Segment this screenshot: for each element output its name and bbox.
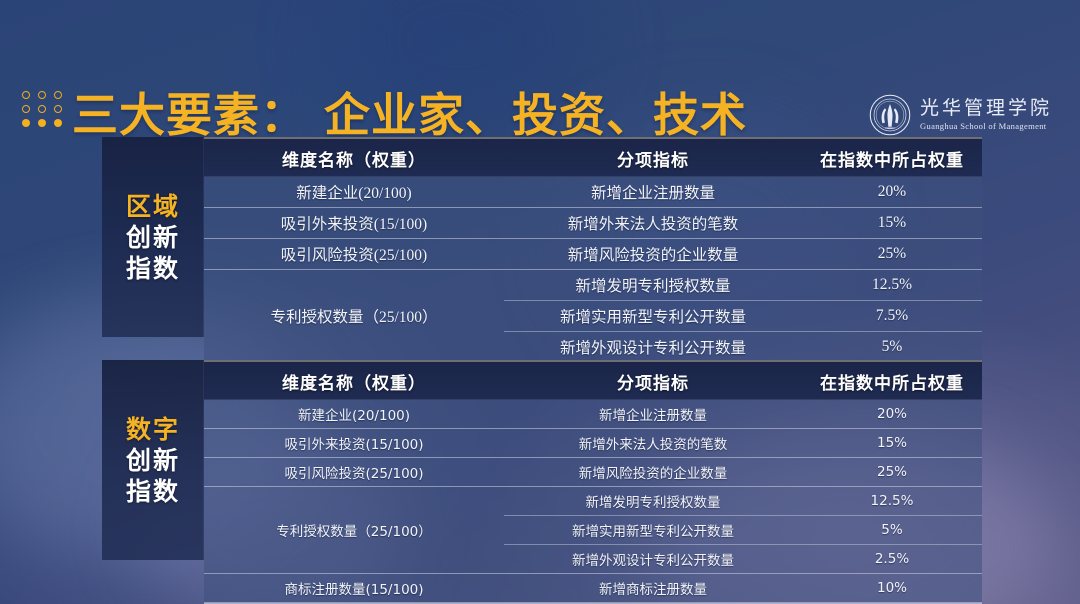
table-row: 吸引风险投资(25/100) 新增风险投资的企业数量 25% xyxy=(204,458,982,487)
dot-grid-icon xyxy=(22,91,68,135)
cell-weight: 25% xyxy=(802,239,982,269)
table-header-row: 维度名称（权重） 分项指标 在指数中所占权重 xyxy=(204,360,982,400)
side-label-line-2: 创新 xyxy=(126,222,180,253)
table-subrow: 新增外观设计专利公开数量 5% xyxy=(504,332,982,362)
table-subrow: 新增外观设计专利公开数量 2.5% xyxy=(504,545,982,573)
cell-weight: 15% xyxy=(802,429,982,457)
cell-indicator: 新增实用新型专利公开数量 xyxy=(504,301,802,331)
cell-indicator: 新增实用新型专利公开数量 xyxy=(504,516,802,544)
cell-indicator: 新增外观设计专利公开数量 xyxy=(504,332,802,362)
table-body: 新建企业(20/100) 新增企业注册数量 20% 吸引外来投资(15/100)… xyxy=(204,400,982,604)
table-header-row: 维度名称（权重） 分项指标 在指数中所占权重 xyxy=(204,137,982,177)
table-row: 吸引外来投资(15/100) 新增外来法人投资的笔数 15% xyxy=(204,208,982,239)
cell-dimension: 新建企业(20/100) xyxy=(204,177,504,207)
table-subrow: 新增实用新型专利公开数量 5% xyxy=(504,516,982,545)
cell-indicator: 新增发明专利授权数量 xyxy=(504,487,802,515)
logo-english-name: Guanghua School of Management xyxy=(920,122,1052,131)
table-row: 新建企业(20/100) 新增企业注册数量 20% xyxy=(204,177,982,208)
cell-weight: 20% xyxy=(802,400,982,428)
header-cell-indicator: 分项指标 xyxy=(504,146,802,171)
cell-dimension: 新建企业(20/100) xyxy=(204,400,504,428)
table-grid-digital: 维度名称（权重） 分项指标 在指数中所占权重 新建企业(20/100) 新增企业… xyxy=(204,360,982,560)
cell-weight: 12.5% xyxy=(802,270,982,300)
table-digital-innovation-index: 数字 创新 指数 维度名称（权重） 分项指标 在指数中所占权重 新建企业(20/… xyxy=(102,360,982,560)
cell-indicator: 新增风险投资的企业数量 xyxy=(504,239,802,269)
table-subrow: 新增实用新型专利公开数量 7.5% xyxy=(504,301,982,332)
cell-weight: 15% xyxy=(802,208,982,238)
merged-subrows: 新增发明专利授权数量 12.5% 新增实用新型专利公开数量 7.5% 新增外观设… xyxy=(504,270,982,362)
side-label-line-3: 指数 xyxy=(126,476,180,507)
merged-subrows: 新增发明专利授权数量 12.5% 新增实用新型专利公开数量 5% 新增外观设计专… xyxy=(504,487,982,573)
cell-indicator: 新增企业注册数量 xyxy=(504,400,802,428)
header-cell-dimension: 维度名称（权重） xyxy=(204,146,504,171)
header-cell-weight: 在指数中所占权重 xyxy=(802,369,982,394)
logo-chinese-name: 光华管理学院 xyxy=(920,99,1052,118)
slide-canvas: 三大要素： 企业家、投资、技术 光华管理学院 Guanghua School o… xyxy=(0,0,1080,604)
cell-indicator: 新增商标注册数量 xyxy=(504,574,802,602)
header-cell-indicator: 分项指标 xyxy=(504,369,802,394)
cell-indicator: 新增外来法人投资的笔数 xyxy=(504,429,802,457)
table-row: 商标注册数量(15/100) 新增商标注册数量 10% xyxy=(204,574,982,603)
cell-dimension-merged: 专利授权数量（25/100） xyxy=(204,487,504,573)
table-row: 新建企业(20/100) 新增企业注册数量 20% xyxy=(204,400,982,429)
table-subrow: 新增发明专利授权数量 12.5% xyxy=(504,270,982,301)
cell-indicator: 新增企业注册数量 xyxy=(504,177,802,207)
side-label-line-3: 指数 xyxy=(126,253,180,284)
cell-indicator: 新增外来法人投资的笔数 xyxy=(504,208,802,238)
table-row: 吸引风险投资(25/100) 新增风险投资的企业数量 25% xyxy=(204,239,982,270)
cell-indicator: 新增风险投资的企业数量 xyxy=(504,458,802,486)
table-row-merged-patent: 专利授权数量（25/100） 新增发明专利授权数量 12.5% 新增实用新型专利… xyxy=(204,487,982,574)
brand-logo: 光华管理学院 Guanghua School of Management xyxy=(869,94,1052,136)
table-row: 吸引外来投资(15/100) 新增外来法人投资的笔数 15% xyxy=(204,429,982,458)
cell-weight: 25% xyxy=(802,458,982,486)
table-row-merged-patent: 专利授权数量（25/100） 新增发明专利授权数量 12.5% 新增实用新型专利… xyxy=(204,270,982,363)
table-subrow: 新增发明专利授权数量 12.5% xyxy=(504,487,982,516)
cell-dimension: 吸引风险投资(25/100) xyxy=(204,458,504,486)
header-cell-weight: 在指数中所占权重 xyxy=(802,146,982,171)
cell-weight: 10% xyxy=(802,574,982,602)
side-label-line-2: 创新 xyxy=(126,445,180,476)
peking-university-seal-icon xyxy=(869,94,911,136)
cell-indicator: 新增发明专利授权数量 xyxy=(504,270,802,300)
cell-dimension: 吸引外来投资(15/100) xyxy=(204,208,504,238)
cell-weight: 7.5% xyxy=(802,301,982,331)
table-grid-regional: 维度名称（权重） 分项指标 在指数中所占权重 新建企业(20/100) 新增企业… xyxy=(204,137,982,337)
cell-weight: 2.5% xyxy=(802,545,982,573)
side-label-line-1: 区域 xyxy=(126,191,180,222)
header-cell-dimension: 维度名称（权重） xyxy=(204,369,504,394)
table-side-label-digital: 数字 创新 指数 xyxy=(102,360,204,560)
cell-dimension: 商标注册数量(15/100) xyxy=(204,574,504,602)
table-side-label-regional: 区域 创新 指数 xyxy=(102,137,204,337)
slide-header: 三大要素： 企业家、投资、技术 光华管理学院 Guanghua School o… xyxy=(0,40,1080,112)
cell-dimension: 吸引外来投资(15/100) xyxy=(204,429,504,457)
cell-dimension-merged: 专利授权数量（25/100） xyxy=(204,270,504,362)
cell-weight: 20% xyxy=(802,177,982,207)
cell-weight: 5% xyxy=(802,516,982,544)
side-label-line-1: 数字 xyxy=(126,414,180,445)
table-regional-innovation-index: 区域 创新 指数 维度名称（权重） 分项指标 在指数中所占权重 新建企业(20/… xyxy=(102,137,982,337)
cell-dimension: 吸引风险投资(25/100) xyxy=(204,239,504,269)
cell-indicator: 新增外观设计专利公开数量 xyxy=(504,545,802,573)
cell-weight: 12.5% xyxy=(802,487,982,515)
cell-weight: 5% xyxy=(802,332,982,362)
